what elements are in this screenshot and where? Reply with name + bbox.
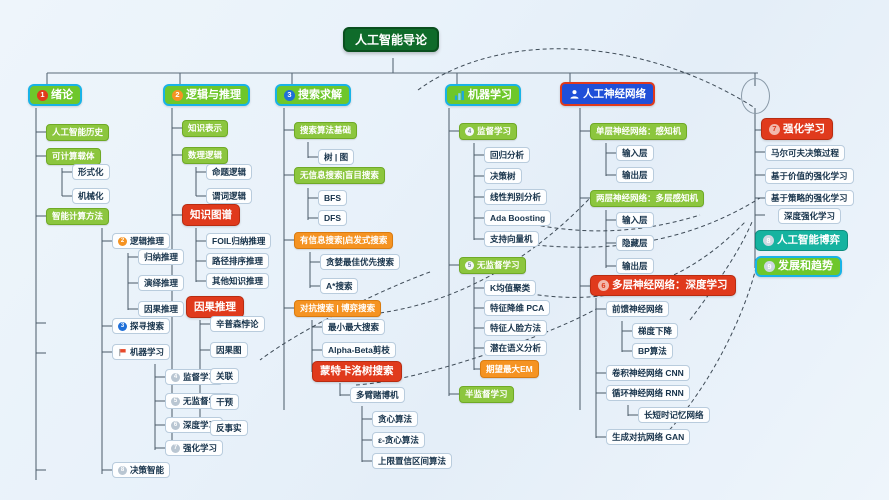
- node-gradient-descent[interactable]: 梯度下降: [632, 323, 678, 339]
- node-association[interactable]: 关联: [210, 368, 239, 384]
- label: 隐藏层: [622, 239, 648, 248]
- node-causal-reasoning-1[interactable]: 因果推理: [138, 301, 184, 317]
- label: Alpha-Beta剪枝: [328, 346, 390, 355]
- badge-5: 5: [465, 261, 474, 270]
- label: 智能计算方法: [52, 212, 103, 221]
- branch-node-ai-game[interactable]: 8 人工智能博弈: [755, 230, 848, 251]
- label: A*搜索: [326, 282, 352, 291]
- label: 深度强化学习: [784, 212, 835, 221]
- badge-3: 3: [118, 322, 127, 331]
- branch-label-introduction: 绪论: [51, 90, 73, 101]
- label: 上限置信区间算法: [378, 457, 446, 466]
- label: 潜在语义分析: [490, 344, 541, 353]
- label: 演绎推理: [144, 279, 178, 288]
- branch-label-trends: 发展和趋势: [778, 261, 833, 272]
- node-value-based-rl[interactable]: 基于价值的强化学习: [765, 168, 854, 184]
- branch-node-introduction[interactable]: 1 绪论: [28, 84, 82, 106]
- label: 谓词逻辑: [212, 192, 246, 201]
- badge-4: 4: [465, 127, 474, 136]
- branch-badge-9: 9: [764, 261, 775, 272]
- label: 贪婪最佳优先搜索: [326, 258, 394, 267]
- bar-chart-icon: [454, 90, 465, 101]
- label: 关联: [216, 372, 233, 381]
- node-output-layer-2[interactable]: 输出层: [616, 258, 654, 274]
- node-ucb-algorithm[interactable]: 上限置信区间算法: [372, 453, 452, 469]
- label: 无信息搜索|盲目搜索: [300, 171, 379, 180]
- branch-node-reinforcement-learning[interactable]: 7 强化学习: [761, 118, 833, 140]
- node-intelligent-computing[interactable]: 智能计算方法: [46, 208, 109, 225]
- branch-node-logic-inference[interactable]: 2 逻辑与推理: [163, 84, 250, 106]
- label: 有信息搜索|启发式搜索: [300, 236, 387, 245]
- node-dfs[interactable]: DFS: [318, 210, 347, 226]
- node-formalization[interactable]: 形式化: [72, 164, 110, 180]
- node-lstm[interactable]: 长短时记忆网络: [638, 407, 710, 423]
- label: 循环神经网络 RNN: [612, 389, 684, 398]
- node-knowledge-representation[interactable]: 知识表示: [182, 120, 228, 137]
- label: 支持向量机: [490, 235, 533, 244]
- node-feedforward-nn[interactable]: 前馈神经网络: [606, 301, 669, 317]
- label: 反事实: [216, 424, 242, 433]
- node-search-algorithm-basics[interactable]: 搜索算法基础: [294, 122, 357, 139]
- label: 监督学习: [477, 127, 511, 136]
- label: 梯度下降: [638, 327, 672, 336]
- node-simpson-paradox[interactable]: 辛普森悖论: [210, 316, 265, 332]
- node-path-ranking[interactable]: 路径排序推理: [206, 253, 269, 269]
- badge-6: 6: [598, 280, 609, 291]
- node-informed-search[interactable]: 有信息搜索|启发式搜索: [294, 232, 393, 249]
- label: 基于价值的强化学习: [771, 172, 848, 181]
- label: 特征人脸方法: [490, 324, 541, 333]
- node-other-knowledge-reasoning[interactable]: 其他知识推理: [206, 273, 269, 289]
- node-deductive-reasoning[interactable]: 演绎推理: [138, 275, 184, 291]
- label: 树 | 图: [324, 153, 348, 162]
- label: 输出层: [622, 171, 648, 180]
- branch-label-search-solving: 搜索求解: [298, 90, 342, 101]
- node-intervention[interactable]: 干预: [210, 394, 239, 410]
- branch-node-neural-network[interactable]: 人工神经网络: [560, 82, 655, 106]
- node-single-layer-perceptron[interactable]: 单层神经网络：感知机: [590, 123, 687, 140]
- label: 机械化: [78, 192, 104, 201]
- label: 辛普森悖论: [216, 320, 259, 329]
- label: 知识表示: [188, 124, 222, 133]
- node-reinforcement-learning-sub[interactable]: 7 强化学习: [165, 440, 223, 456]
- node-bp-algorithm[interactable]: BP算法: [632, 343, 673, 359]
- node-kmeans[interactable]: K均值聚类: [484, 280, 536, 296]
- label: 输入层: [622, 216, 648, 225]
- node-lda[interactable]: 线性判别分析: [484, 189, 547, 205]
- node-knowledge-graph[interactable]: 知识图谱: [182, 204, 240, 226]
- node-computable-carrier[interactable]: 可计算载体: [46, 148, 101, 165]
- label: 多臂赌博机: [356, 391, 399, 400]
- node-unsupervised-learning[interactable]: 5 无监督学习: [459, 257, 526, 274]
- label: 知识图谱: [190, 210, 232, 221]
- label: 逻辑推理: [130, 237, 164, 246]
- node-mathematical-logic[interactable]: 数理逻辑: [182, 147, 228, 164]
- root-label: 人工智能导论: [355, 34, 427, 46]
- label: 路径排序推理: [212, 257, 263, 266]
- mindmap-canvas: 人工智能导论 1 绪论 人工智能历史 可计算载体 形式化 机械化 智能计算方法 …: [0, 0, 889, 500]
- label: 卷积神经网络 CNN: [612, 369, 684, 378]
- node-exploration-search[interactable]: 3 探寻搜索: [112, 318, 170, 334]
- label: 干预: [216, 398, 233, 407]
- label: BFS: [324, 194, 341, 203]
- label: 决策智能: [130, 466, 164, 475]
- badge-8: 8: [118, 466, 127, 475]
- node-uninformed-search[interactable]: 无信息搜索|盲目搜索: [294, 167, 385, 184]
- node-inductive-reasoning[interactable]: 归纳推理: [138, 249, 184, 265]
- label: 因果推理: [194, 302, 236, 313]
- label: ε-贪心算法: [378, 436, 419, 445]
- node-em-algorithm[interactable]: 期望最大EM: [480, 360, 539, 378]
- node-deep-learning[interactable]: 6 多层神经网络：深度学习: [590, 275, 736, 296]
- branch-badge-8: 8: [763, 235, 774, 246]
- node-pca[interactable]: 特征降维 PCA: [484, 300, 550, 316]
- node-logic-reasoning[interactable]: 2 逻辑推理: [112, 233, 170, 249]
- label: 两层神经网络：多层感知机: [596, 194, 698, 203]
- node-foil-induction[interactable]: FOIL归纳推理: [206, 233, 271, 249]
- node-lsa[interactable]: 潜在语义分析: [484, 340, 547, 356]
- label: 基于策略的强化学习: [771, 194, 848, 203]
- node-mechanization[interactable]: 机械化: [72, 188, 110, 204]
- node-two-layer-mlp[interactable]: 两层神经网络：多层感知机: [590, 190, 704, 207]
- label: 回归分析: [490, 151, 524, 160]
- node-greedy-best-first[interactable]: 贪婪最佳优先搜索: [320, 254, 400, 270]
- badge-5: 5: [171, 397, 180, 406]
- node-epsilon-greedy[interactable]: ε-贪心算法: [372, 432, 425, 448]
- node-deep-rl[interactable]: 深度强化学习: [778, 208, 841, 224]
- branch-node-trends[interactable]: 9 发展和趋势: [755, 256, 842, 277]
- label: 归纳推理: [144, 253, 178, 262]
- node-eigenface[interactable]: 特征人脸方法: [484, 320, 547, 336]
- badge-7: 7: [171, 444, 180, 453]
- label: 期望最大EM: [486, 365, 533, 374]
- branch-label-logic-inference: 逻辑与推理: [186, 90, 241, 101]
- label: 半监督学习: [465, 390, 508, 399]
- node-semi-supervised-learning[interactable]: 半监督学习: [459, 386, 514, 403]
- node-multi-armed-bandit[interactable]: 多臂赌博机: [350, 387, 405, 403]
- label: 线性判别分析: [490, 193, 541, 202]
- label: 决策树: [490, 172, 516, 181]
- node-machine-learning-sub[interactable]: 机器学习: [112, 344, 170, 360]
- label: Ada Boosting: [490, 214, 545, 223]
- label: 探寻搜索: [130, 322, 164, 331]
- node-input-layer-1[interactable]: 输入层: [616, 145, 654, 161]
- node-greedy-algorithm[interactable]: 贪心算法: [372, 411, 418, 427]
- node-adversarial-search[interactable]: 对抗搜索 | 博弈搜索: [294, 300, 381, 317]
- node-bfs[interactable]: BFS: [318, 190, 347, 206]
- node-regression-analysis[interactable]: 回归分析: [484, 147, 530, 163]
- label: 机器学习: [130, 348, 164, 357]
- label: 特征降维 PCA: [490, 304, 544, 313]
- node-causal-graph[interactable]: 因果图: [210, 342, 248, 358]
- label: 蒙特卡洛树搜索: [320, 366, 394, 377]
- label: 输出层: [622, 262, 648, 271]
- node-policy-based-rl[interactable]: 基于策略的强化学习: [765, 190, 854, 206]
- branch-label-ai-game: 人工智能博弈: [777, 235, 840, 246]
- branch-label-reinforcement-learning: 强化学习: [783, 124, 825, 135]
- label: 输入层: [622, 149, 648, 158]
- label: 强化学习: [183, 444, 217, 453]
- node-ai-history[interactable]: 人工智能历史: [46, 124, 109, 141]
- person-icon: [569, 89, 580, 100]
- node-alpha-beta-pruning[interactable]: Alpha-Beta剪枝: [322, 342, 396, 358]
- label: 无监督学习: [477, 261, 520, 270]
- label: 形式化: [78, 168, 104, 177]
- node-gan[interactable]: 生成对抗网络 GAN: [606, 429, 690, 445]
- node-rnn[interactable]: 循环神经网络 RNN: [606, 385, 690, 401]
- flag-icon: [118, 348, 127, 357]
- label: 马尔可夫决策过程: [771, 149, 839, 158]
- branch-label-neural-network: 人工神经网络: [583, 89, 646, 100]
- label: 对抗搜索 | 博弈搜索: [300, 304, 375, 313]
- label: K均值聚类: [490, 284, 530, 293]
- node-minimax-search[interactable]: 最小最大搜索: [322, 319, 385, 335]
- badge-6: 6: [171, 421, 180, 430]
- node-counterfactual[interactable]: 反事实: [210, 420, 248, 436]
- node-mdp[interactable]: 马尔可夫决策过程: [765, 145, 845, 161]
- node-svm[interactable]: 支持向量机: [484, 231, 539, 247]
- node-output-layer-1[interactable]: 输出层: [616, 167, 654, 183]
- label: 搜索算法基础: [300, 126, 351, 135]
- label: 因果推理: [144, 305, 178, 314]
- node-ada-boosting[interactable]: Ada Boosting: [484, 210, 551, 226]
- label: BP算法: [638, 347, 667, 356]
- branch-badge-1: 1: [37, 90, 48, 101]
- branch-badge-7: 7: [769, 124, 780, 135]
- label: 可计算载体: [52, 152, 95, 161]
- node-a-star-search[interactable]: A*搜索: [320, 278, 358, 294]
- node-hidden-layer[interactable]: 隐藏层: [616, 235, 654, 251]
- node-propositional-logic[interactable]: 命题逻辑: [206, 164, 252, 180]
- label: DFS: [324, 214, 341, 223]
- label: 长短时记忆网络: [644, 411, 704, 420]
- badge-4: 4: [171, 373, 180, 382]
- label: 前馈神经网络: [612, 305, 663, 314]
- connector-lines: [0, 0, 889, 500]
- node-causal-reasoning[interactable]: 因果推理: [186, 296, 244, 318]
- node-predicate-logic[interactable]: 谓词逻辑: [206, 188, 252, 204]
- label: 最小最大搜索: [328, 323, 379, 332]
- label: 贪心算法: [378, 415, 412, 424]
- branch-badge-3: 3: [284, 90, 295, 101]
- badge-2: 2: [118, 237, 127, 246]
- label: 其他知识推理: [212, 277, 263, 286]
- label: FOIL归纳推理: [212, 237, 265, 246]
- node-tree-graph[interactable]: 树 | 图: [318, 149, 354, 165]
- node-supervised-learning[interactable]: 4 监督学习: [459, 123, 517, 140]
- branch-node-search-solving[interactable]: 3 搜索求解: [275, 84, 351, 106]
- root-node[interactable]: 人工智能导论: [343, 27, 439, 52]
- label: 人工智能历史: [52, 128, 103, 137]
- branch-badge-2: 2: [172, 90, 183, 101]
- node-cnn[interactable]: 卷积神经网络 CNN: [606, 365, 690, 381]
- label: 多层神经网络：深度学习: [612, 280, 728, 291]
- empty-ellipse-node[interactable]: [741, 78, 770, 114]
- label: 单层神经网络：感知机: [596, 127, 681, 136]
- node-decision-tree[interactable]: 决策树: [484, 168, 522, 184]
- label: 因果图: [216, 346, 242, 355]
- label: 命题逻辑: [212, 168, 246, 177]
- label: 生成对抗网络 GAN: [612, 433, 684, 442]
- node-input-layer-2[interactable]: 输入层: [616, 212, 654, 228]
- node-monte-carlo-tree-search[interactable]: 蒙特卡洛树搜索: [312, 361, 402, 382]
- node-decision-intelligence[interactable]: 8 决策智能: [112, 462, 170, 478]
- label: 数理逻辑: [188, 151, 222, 160]
- branch-label-machine-learning: 机器学习: [468, 90, 512, 101]
- branch-node-machine-learning[interactable]: 机器学习: [445, 84, 521, 106]
